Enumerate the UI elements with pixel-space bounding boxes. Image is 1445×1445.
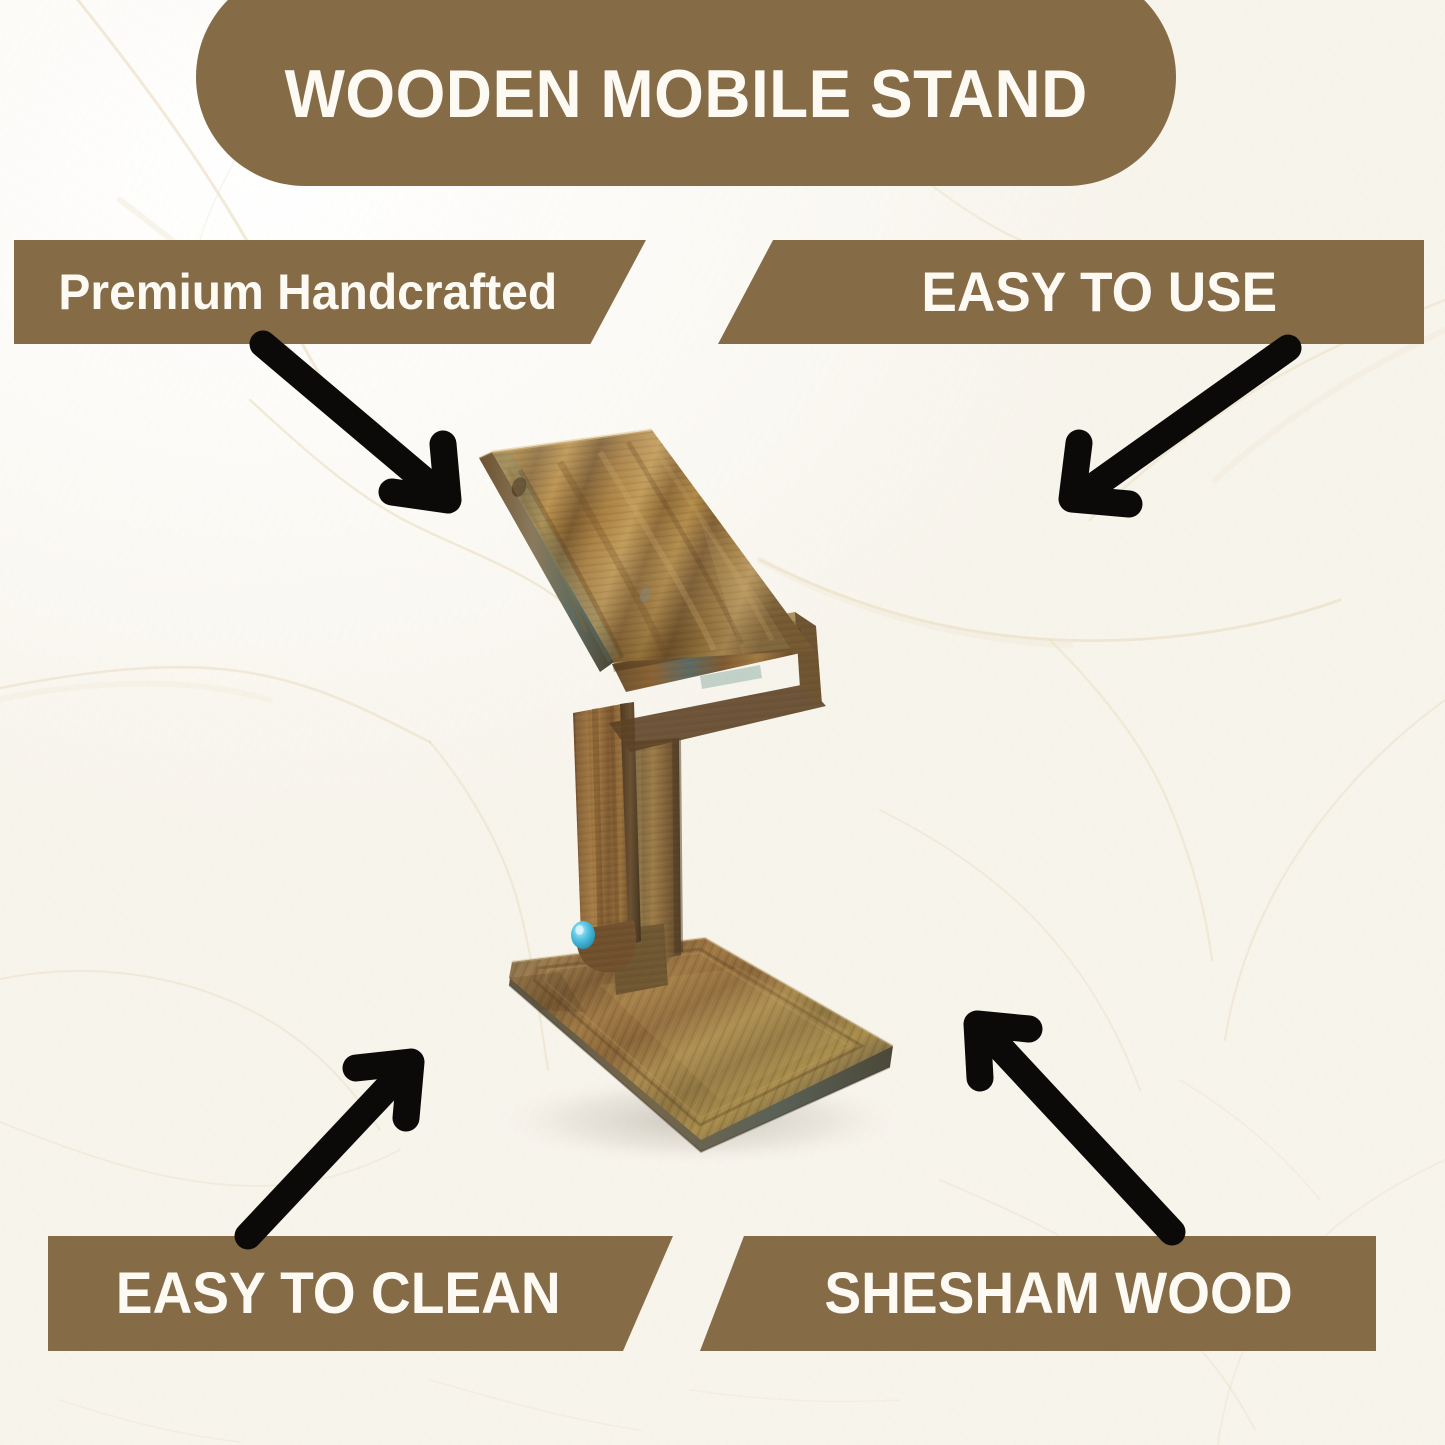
- callout-banner-shesham-wood: SHESHAM WOOD: [700, 1236, 1376, 1351]
- callout-label-shesham-wood: SHESHAM WOOD: [824, 1265, 1292, 1323]
- callout-label-premium-handcrafted: Premium Handcrafted: [58, 267, 557, 317]
- callout-label-easy-to-clean: EASY TO CLEAN: [116, 1265, 561, 1323]
- pivot-screw: [571, 921, 595, 949]
- callout-label-easy-to-use: EASY TO USE: [921, 264, 1277, 320]
- infographic-canvas: WOODEN MOBILE STAND: [0, 0, 1445, 1445]
- callout-banner-premium-handcrafted: Premium Handcrafted: [14, 240, 646, 344]
- product-image-wooden-mobile-stand: [0, 0, 1445, 1445]
- back-panel: [479, 430, 814, 672]
- callout-banner-easy-to-use: EASY TO USE: [718, 240, 1424, 344]
- callout-banner-easy-to-clean: EASY TO CLEAN: [48, 1236, 673, 1351]
